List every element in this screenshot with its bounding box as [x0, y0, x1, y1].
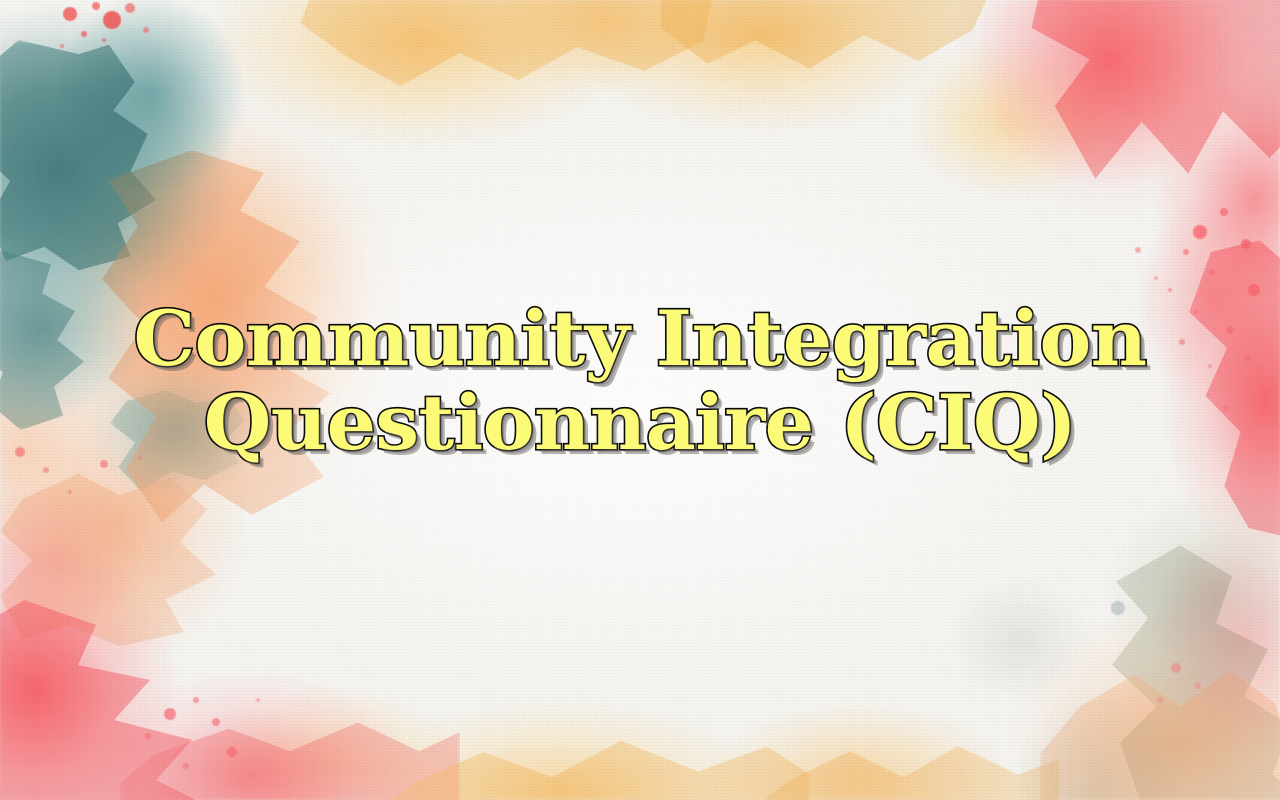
gold-blotch-top-right: [660, 0, 1000, 100]
splatter-dot: [102, 38, 106, 42]
splatter-dot: [1195, 683, 1201, 689]
splatter-dot: [1171, 663, 1181, 673]
splatter-dot: [43, 467, 49, 473]
splatter-dot: [81, 31, 87, 37]
splatter-dot: [1135, 247, 1141, 253]
splatter-dot: [227, 747, 237, 757]
splatter-dot: [145, 733, 151, 739]
splatter-dot: [256, 698, 260, 702]
splatter-dot: [1241, 239, 1251, 249]
peach-blotch-left-lower: [0, 470, 230, 650]
splatter-dot: [1220, 208, 1228, 216]
gold-blotch-bottom: [380, 710, 810, 800]
splatter-dot: [1154, 276, 1158, 280]
splatter-dot: [143, 27, 149, 33]
splatter-dot: [68, 490, 72, 494]
splatter-dot: [1157, 697, 1163, 703]
splatter-dot: [63, 7, 77, 21]
splatter-dot: [1183, 249, 1189, 255]
splatter-dot: [193, 697, 199, 703]
splatter-dot: [212, 718, 220, 726]
peach-blotch-bottom-right: [1040, 660, 1280, 800]
title-line-2: Questionnaire (CIQ): [0, 380, 1280, 466]
splatter-dot: [103, 11, 121, 29]
splatter-dot: [1168, 288, 1172, 292]
splatter-dot: [1248, 284, 1260, 296]
coral-blotch-top-right: [1020, 0, 1280, 210]
splatter-dot: [1209, 269, 1215, 275]
coral-blotch-bottom: [120, 700, 460, 800]
teal-blotch-top-left: [0, 40, 195, 275]
splatter-dot: [1193, 225, 1207, 239]
sage-blotch-bottom-right: [1100, 540, 1280, 800]
gold-blotch-bottom-right: [760, 720, 1060, 800]
splatter-dot: [164, 708, 176, 720]
slide-canvas: Community Integration Questionnaire (CIQ…: [0, 0, 1280, 800]
coral-blotch-bottom-left: [0, 590, 240, 800]
splatter-dot: [125, 3, 135, 13]
splatter-dot: [183, 763, 189, 769]
slide-title: Community Integration Questionnaire (CIQ…: [0, 296, 1280, 466]
splatter-dot: [60, 44, 64, 48]
splatter-dot: [1111, 601, 1125, 615]
gold-blotch-top: [300, 0, 720, 110]
title-line-1: Community Integration: [0, 296, 1280, 382]
splatter-dot: [92, 2, 100, 10]
